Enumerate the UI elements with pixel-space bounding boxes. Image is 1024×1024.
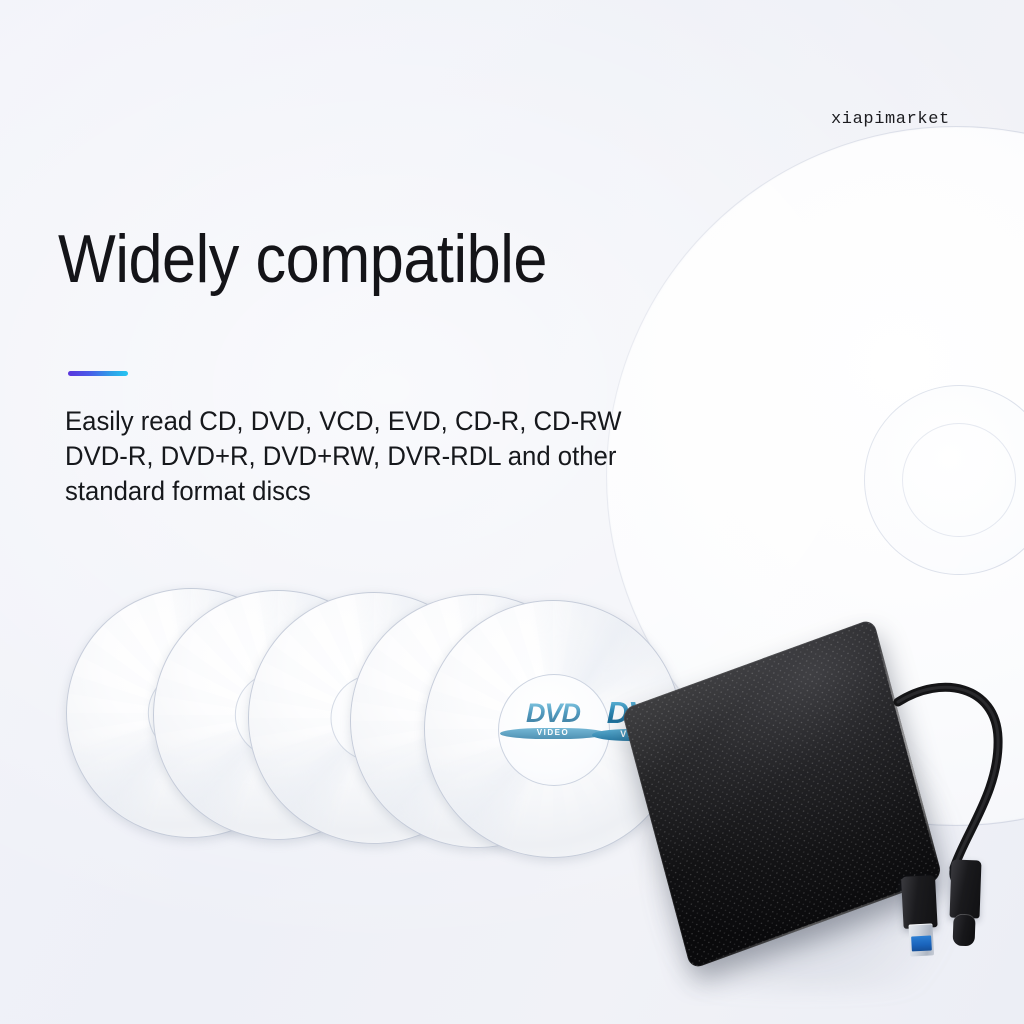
watermark: xiapimarket bbox=[831, 110, 950, 129]
usb-a-connector bbox=[901, 875, 939, 955]
page-title: Widely compatible bbox=[58, 225, 547, 293]
background-disc-hub-inner bbox=[902, 423, 1016, 537]
body-line-1: Easily read CD, DVD, VCD, EVD, CD-R, CD-… bbox=[65, 404, 666, 439]
usb-c-connector bbox=[948, 860, 981, 949]
product-banner: Widely compatible Easily read CD, DVD, V… bbox=[0, 0, 1024, 1024]
dvd-word: DVD bbox=[500, 700, 606, 727]
usb-a-housing bbox=[901, 875, 938, 929]
usb-c-housing bbox=[950, 860, 982, 919]
dvd-video-logo-hub: DVD VIDEO bbox=[500, 700, 606, 739]
dvd-video-sub: VIDEO bbox=[500, 728, 606, 739]
usb-a-insert bbox=[911, 935, 932, 951]
body-copy: Easily read CD, DVD, VCD, EVD, CD-R, CD-… bbox=[65, 404, 666, 509]
accent-divider bbox=[68, 371, 128, 376]
usb-c-tip bbox=[953, 914, 976, 947]
body-line-3: standard format discs bbox=[65, 474, 666, 509]
body-line-2: DVD-R, DVD+R, DVD+RW, DVR-RDL and other bbox=[65, 439, 666, 474]
